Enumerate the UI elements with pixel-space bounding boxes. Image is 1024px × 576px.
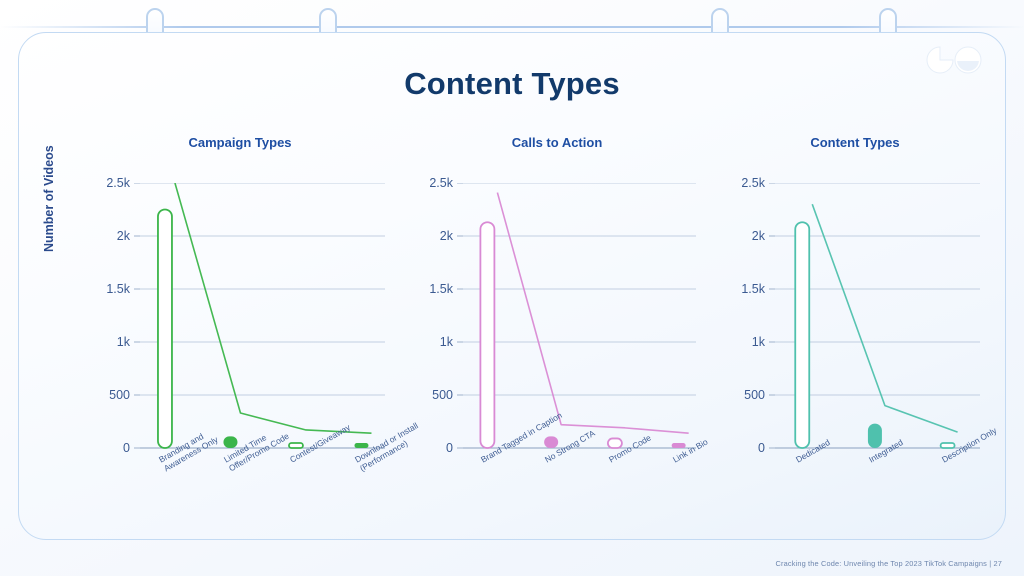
page-title: Content Types	[0, 66, 1024, 102]
bar	[544, 436, 558, 448]
chart-panel-3: Content Types2.5k2k1.5k1k5000DedicatedIn…	[730, 135, 980, 525]
bar	[158, 210, 172, 449]
chart-svg	[730, 183, 980, 462]
y-axis-label: Number of Videos	[42, 145, 56, 252]
chart-panel-2: Calls to Action2.5k2k1.5k1k5000Brand Tag…	[418, 135, 696, 525]
slide-root: Content Types Number of Videos Campaign …	[0, 0, 1024, 576]
chart-panel-1: Campaign Types2.5k2k1.5k1k5000Branding a…	[95, 135, 385, 525]
trend-line	[812, 204, 957, 432]
slide-footer: Cracking the Code: Unveiling the Top 202…	[775, 559, 1002, 568]
bar	[608, 438, 622, 448]
trend-line	[497, 193, 688, 434]
bar	[480, 222, 494, 448]
chart-title: Content Types	[730, 135, 980, 150]
chart-plot-area: 2.5k2k1.5k1k5000Branding and Awareness O…	[95, 183, 385, 518]
chart-plot-area: 2.5k2k1.5k1k5000DedicatedIntegratedDescr…	[730, 183, 980, 518]
chart-plot-area: 2.5k2k1.5k1k5000Brand Tagged in CaptionN…	[418, 183, 696, 518]
bar	[223, 436, 237, 448]
bar	[868, 424, 882, 448]
chart-title: Calls to Action	[418, 135, 696, 150]
bar	[795, 222, 809, 448]
trend-line	[175, 183, 372, 433]
chart-title: Campaign Types	[95, 135, 385, 150]
chart-svg	[95, 183, 385, 462]
